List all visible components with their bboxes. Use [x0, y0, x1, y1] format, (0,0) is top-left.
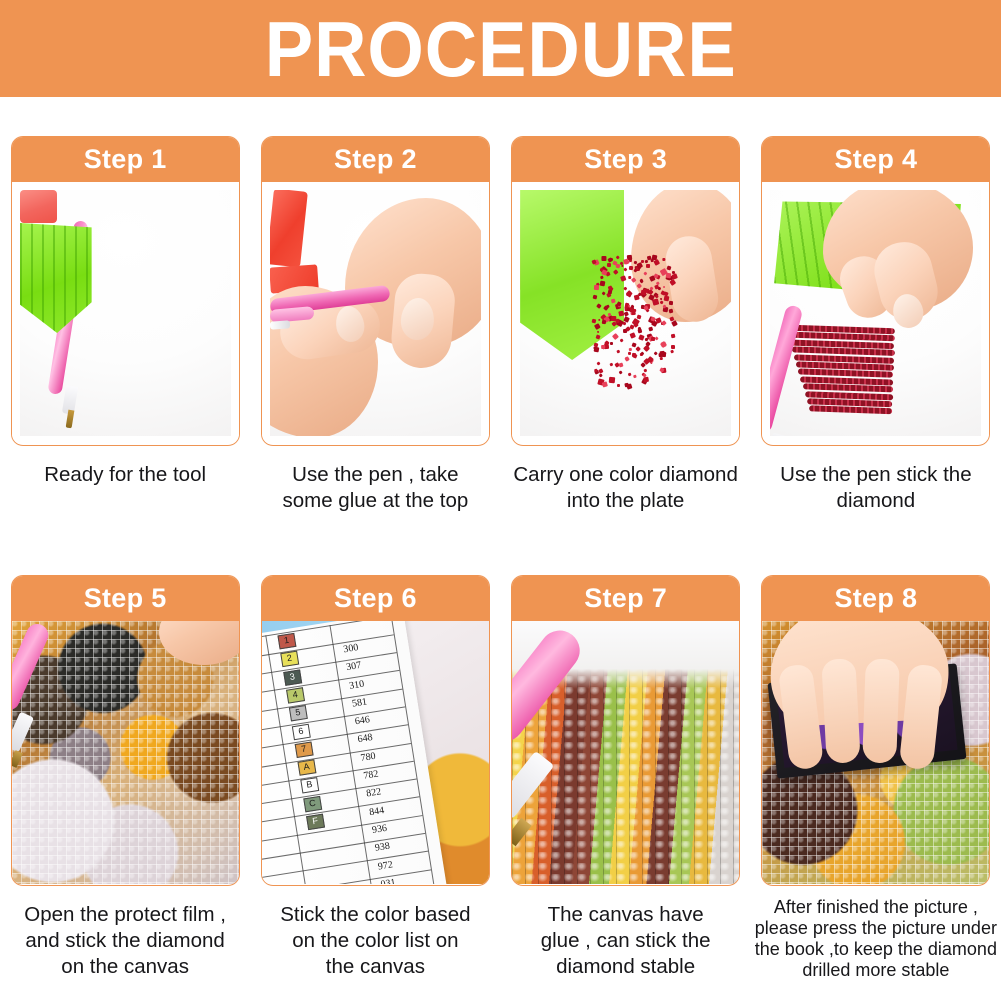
diamond-bead: [670, 350, 673, 353]
caption-line: please press the picture under: [754, 918, 998, 939]
diamond-bead: [618, 310, 624, 316]
diamond-bead: [619, 370, 623, 374]
diamond-bead: [659, 367, 664, 372]
diamond-bead: [649, 276, 655, 282]
diamonds-in-tray-photo: [520, 190, 731, 436]
step-cell-3: Step 3 Carry one color diamond into the: [501, 136, 751, 514]
chart-dmc-cell: 844: [369, 805, 386, 818]
chart-symbol-cell: 6: [292, 724, 311, 740]
step-image-5: [12, 621, 239, 884]
chart-dmc-cell: 780: [360, 751, 377, 764]
diamond-bead: [662, 258, 666, 262]
bead-rows-photo: [512, 621, 739, 884]
diamond-bead: [623, 287, 627, 291]
step-card-3[interactable]: Step 3: [511, 136, 740, 446]
diamond-bead: [666, 273, 671, 278]
diamond-bead: [628, 266, 633, 271]
caption-line: the canvas: [257, 954, 493, 980]
step-image-2: [262, 182, 489, 444]
diamond-bead: [666, 266, 671, 271]
step-label-3: Step 3: [512, 137, 739, 182]
chart-symbol-cell: 3: [283, 669, 302, 685]
chart-rule: [262, 761, 414, 792]
chart-dmc-cell: 300: [343, 642, 360, 655]
diamond-bead: [629, 332, 636, 339]
diamond-bead: [599, 280, 605, 286]
chart-rule: [262, 869, 431, 884]
diamond-bead: [648, 289, 653, 294]
diamond-bead: [592, 295, 596, 299]
diamond-bead: [613, 269, 618, 274]
diamond-bead: [643, 272, 647, 276]
diamond-bead: [633, 374, 637, 378]
taking-glue-photo: [270, 190, 481, 436]
step-card-5[interactable]: Step 5: [11, 575, 240, 886]
diamond-bead: [594, 285, 599, 290]
wax-square-icon: [20, 190, 57, 223]
diamond-bead: [622, 321, 626, 325]
steps-row-top: Step 1 Ready for the tool: [0, 136, 1001, 514]
chart-dmc-cell: 307: [346, 660, 363, 673]
chart-symbol-cell: B: [301, 778, 320, 794]
diamond-bead: [651, 337, 655, 341]
diamond-bead: [669, 308, 674, 313]
chart-dmc-cell: 581: [352, 696, 369, 709]
diamond-bead: [592, 319, 596, 323]
step-label-6: Step 6: [262, 576, 489, 621]
color-chart-photo: 112230033307443105558166646776488A780B78…: [262, 621, 489, 884]
diamond-bead: [623, 267, 627, 271]
diamond-bead: [604, 306, 609, 311]
diamond-bead: [671, 320, 678, 327]
step-cell-1: Step 1 Ready for the tool: [0, 136, 250, 514]
diamond-bead: [646, 264, 651, 269]
diamond-bead: [627, 276, 630, 279]
finger: [822, 658, 861, 764]
diamond-bead: [626, 383, 632, 389]
diamond-bead: [627, 372, 631, 376]
diamond-bead: [610, 362, 614, 366]
diamond-bead: [672, 273, 679, 280]
page-title: PROCEDURE: [265, 10, 737, 88]
diamond-bead: [646, 341, 652, 347]
step-image-4: [762, 182, 989, 444]
diamond-bead: [641, 352, 645, 356]
caption-line: Use the pen , take: [257, 462, 493, 488]
steps-row-bottom: Step 5 Open the protect film , and stick…: [0, 575, 1001, 981]
chart-symbol-cell: 1: [278, 633, 297, 649]
step-cell-7: Step 7 The canvas have glue , can stick …: [501, 575, 751, 981]
diamond-bead: [660, 357, 663, 360]
diamond-bead: [599, 368, 604, 373]
chart-dmc-cell: 936: [372, 823, 389, 836]
diamond-bead: [601, 256, 606, 261]
finger: [863, 658, 901, 763]
red-diamonds-pile: [586, 252, 682, 392]
chart-symbol-cell: 2: [280, 651, 299, 667]
caption-line: Carry one color diamond: [508, 462, 744, 488]
step-label-7: Step 7: [512, 576, 739, 621]
diamond-bead: [623, 258, 629, 264]
step-image-7: [512, 621, 739, 884]
caption-line: Ready for the tool: [7, 462, 243, 488]
caption-line: drilled more stable: [754, 960, 998, 981]
diamond-bead: [614, 318, 619, 323]
chart-symbol-cell: 5: [289, 706, 308, 722]
step-caption-3: Carry one color diamond into the plate: [508, 462, 744, 514]
diamond-bead: [663, 285, 666, 288]
diamond-bead: [633, 294, 639, 300]
step-caption-7: The canvas have glue , can stick the dia…: [508, 902, 744, 981]
chart-dmc-cell: 972: [377, 859, 394, 872]
diamond-bead: [609, 376, 615, 382]
diamond-bead: [618, 362, 623, 367]
chart-symbol-cell: A: [298, 760, 317, 776]
diamond-bead: [653, 259, 660, 266]
step-label-8: Step 8: [762, 576, 989, 621]
chart-rule: [262, 797, 420, 828]
caption-line: Use the pen stick the: [758, 462, 994, 488]
diamond-bead: [629, 348, 632, 351]
step-caption-1: Ready for the tool: [7, 462, 243, 488]
diamond-bead: [617, 384, 620, 387]
chart-symbol-cell: C: [303, 796, 322, 812]
chart-rule: [262, 815, 423, 846]
caption-line: some glue at the top: [257, 488, 493, 514]
diamond-bead: [601, 381, 608, 388]
diamond-bead: [616, 255, 621, 260]
step-image-6: 112230033307443105558166646776488A780B78…: [262, 621, 489, 884]
diamond-bead: [594, 323, 600, 329]
step-image-8: [762, 621, 989, 884]
diamond-bead: [648, 327, 653, 332]
diamond-bead: [597, 361, 601, 365]
caption-line: diamond stable: [508, 954, 744, 980]
diamond-bead: [661, 352, 666, 357]
diamond-bead: [654, 351, 659, 356]
diamond-row: [810, 406, 893, 415]
pressing-picture-photo: [762, 621, 989, 884]
step-label-4: Step 4: [762, 137, 989, 182]
step-label-1: Step 1: [12, 137, 239, 182]
diamond-bead: [671, 334, 676, 339]
diamond-bead: [661, 320, 667, 326]
step-image-3: [512, 182, 739, 444]
chart-dmc-cell: 782: [363, 769, 380, 782]
step-cell-5: Step 5 Open the protect film , and stick…: [0, 575, 250, 981]
diamond-bead: [616, 263, 621, 268]
diamond-bead: [610, 342, 613, 345]
caption-line: diamond: [758, 488, 994, 514]
step-cell-6: Step 6 112230033307443105558166646776488…: [250, 575, 500, 981]
chart-symbol-cell: 4: [286, 687, 305, 703]
chart-table: 112230033307443105558166646776488A780B78…: [262, 621, 434, 884]
diamond-bead: [599, 275, 603, 279]
caption-line: and stick the diamond: [7, 928, 243, 954]
step-caption-8: After finished the picture , please pres…: [754, 897, 998, 981]
diamond-bead: [609, 258, 613, 262]
step-caption-4: Use the pen stick the diamond: [758, 462, 994, 514]
step-card-2[interactable]: Step 2: [261, 136, 490, 446]
procedure-infographic: PROCEDURE Step 1: [0, 0, 1001, 1001]
page-banner: PROCEDURE: [0, 0, 1001, 97]
step-image-1: [12, 182, 239, 444]
diamond-bead: [617, 349, 621, 353]
step-caption-5: Open the protect film , and stick the di…: [7, 902, 243, 981]
chart-dmc-cell: 648: [357, 733, 374, 746]
chart-dmc-cell: 938: [375, 841, 392, 854]
step-cell-4: Step 4: [751, 136, 1001, 514]
diamond-bead: [663, 295, 669, 301]
diamond-bead: [643, 369, 647, 373]
diamond-bead: [599, 373, 604, 378]
step-caption-2: Use the pen , take some glue at the top: [257, 462, 493, 514]
diamond-bead: [620, 275, 626, 281]
caption-line: on the color list on: [257, 928, 493, 954]
diamond-bead: [669, 301, 673, 305]
chart-dmc-cell: 310: [349, 678, 366, 691]
sunflower-canvas-photo: [12, 621, 239, 884]
diamond-bead: [628, 352, 632, 356]
step-cell-8: Step 8: [751, 575, 1001, 981]
chart-dmc-cell: 822: [366, 787, 383, 800]
chart-rule: [262, 851, 428, 882]
step-label-5: Step 5: [12, 576, 239, 621]
pen-picks-diamond-photo: [770, 190, 981, 436]
step-card-4[interactable]: Step 4: [761, 136, 990, 446]
caption-line: Stick the color based: [257, 902, 493, 928]
diamond-bead: [607, 263, 611, 267]
pen-tip-icon: [270, 320, 290, 329]
caption-line: into the plate: [508, 488, 744, 514]
chart-symbol-cell: F: [306, 814, 325, 830]
diamond-bead: [595, 335, 600, 340]
caption-line: The canvas have: [508, 902, 744, 928]
diamond-bead: [612, 333, 619, 340]
step-caption-6: Stick the color based on the color list …: [257, 902, 493, 981]
diamond-bead: [632, 354, 637, 359]
step-card-6[interactable]: Step 6 112230033307443105558166646776488…: [261, 575, 490, 886]
diamond-bead: [601, 345, 605, 349]
diamond-bead: [671, 345, 675, 349]
diamond-bead: [619, 338, 623, 342]
step-card-1[interactable]: Step 1: [11, 136, 240, 446]
chart-symbol-cell: 7: [295, 742, 314, 758]
caption-line: the book ,to keep the diamond: [754, 939, 998, 960]
caption-line: Open the protect film ,: [7, 902, 243, 928]
step-cell-2: Step 2: [250, 136, 500, 514]
step-card-7[interactable]: Step 7: [511, 575, 740, 886]
diamond-bead: [636, 283, 642, 289]
step-card-8[interactable]: Step 8: [761, 575, 990, 886]
chart-rule: [262, 833, 426, 864]
chart-rule: [262, 689, 403, 720]
caption-line: glue , can stick the: [508, 928, 744, 954]
chart-rule: [262, 779, 417, 810]
chart-dmc-cell: 646: [355, 715, 372, 728]
chart-dmc-cell: 031: [380, 877, 397, 884]
caption-line: After finished the picture ,: [754, 897, 998, 918]
step-label-2: Step 2: [262, 137, 489, 182]
diamond-bead: [596, 303, 601, 308]
tool-kit-photo: [20, 190, 231, 436]
caption-line: on the canvas: [7, 954, 243, 980]
diamond-bead: [631, 277, 636, 282]
diamond-bead: [652, 299, 659, 306]
diamond-bead: [639, 334, 645, 340]
diamond-bead: [624, 356, 630, 362]
chart-rule: [262, 707, 406, 738]
